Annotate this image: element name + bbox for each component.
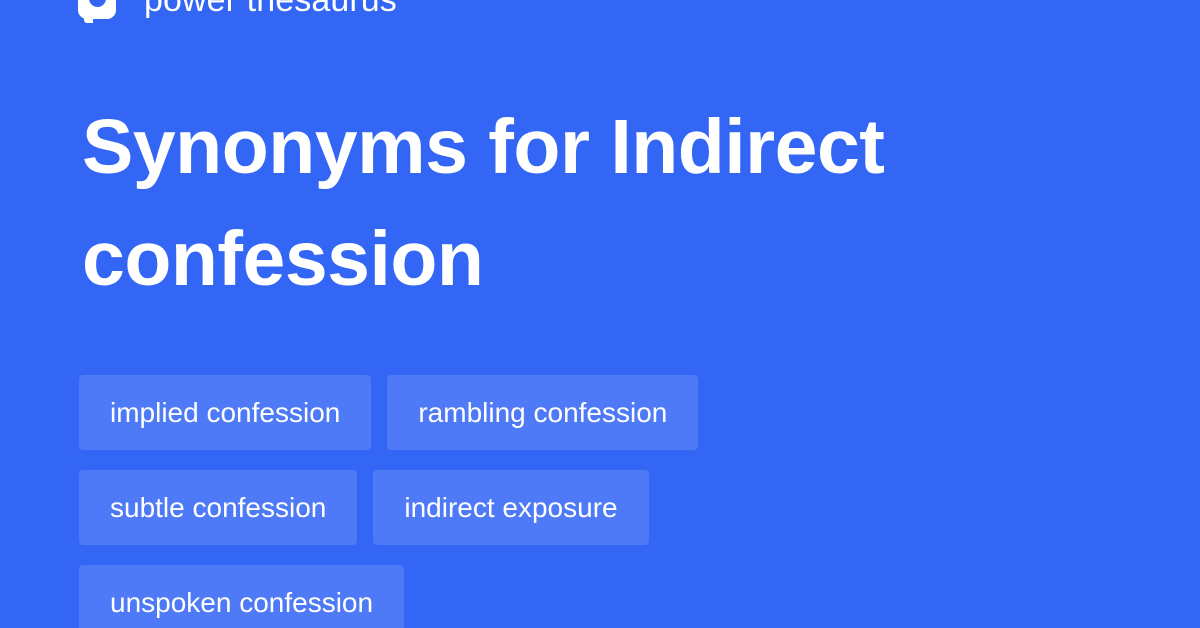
page-title: Synonyms for Indirect confession <box>82 92 1082 315</box>
synonym-tag[interactable]: indirect exposure <box>373 470 648 545</box>
synonym-tag[interactable]: rambling confession <box>387 375 698 450</box>
synonym-row: subtle confession indirect exposure <box>79 470 1159 545</box>
brand-name: power thesaurus <box>144 0 397 17</box>
synonym-row: unspoken confession <box>79 565 1159 628</box>
synonym-tag[interactable]: unspoken confession <box>79 565 404 628</box>
power-thesaurus-logo-icon <box>78 0 116 19</box>
synonym-row: implied confession rambling confession <box>79 375 1159 450</box>
synonym-tag[interactable]: implied confession <box>79 375 371 450</box>
brand-lockup[interactable]: power thesaurus <box>78 0 397 26</box>
synonym-tag[interactable]: subtle confession <box>79 470 357 545</box>
og-share-card: power thesaurus Synonyms for Indirect co… <box>0 0 1200 628</box>
synonym-tag-list: implied confession rambling confession s… <box>79 375 1159 628</box>
